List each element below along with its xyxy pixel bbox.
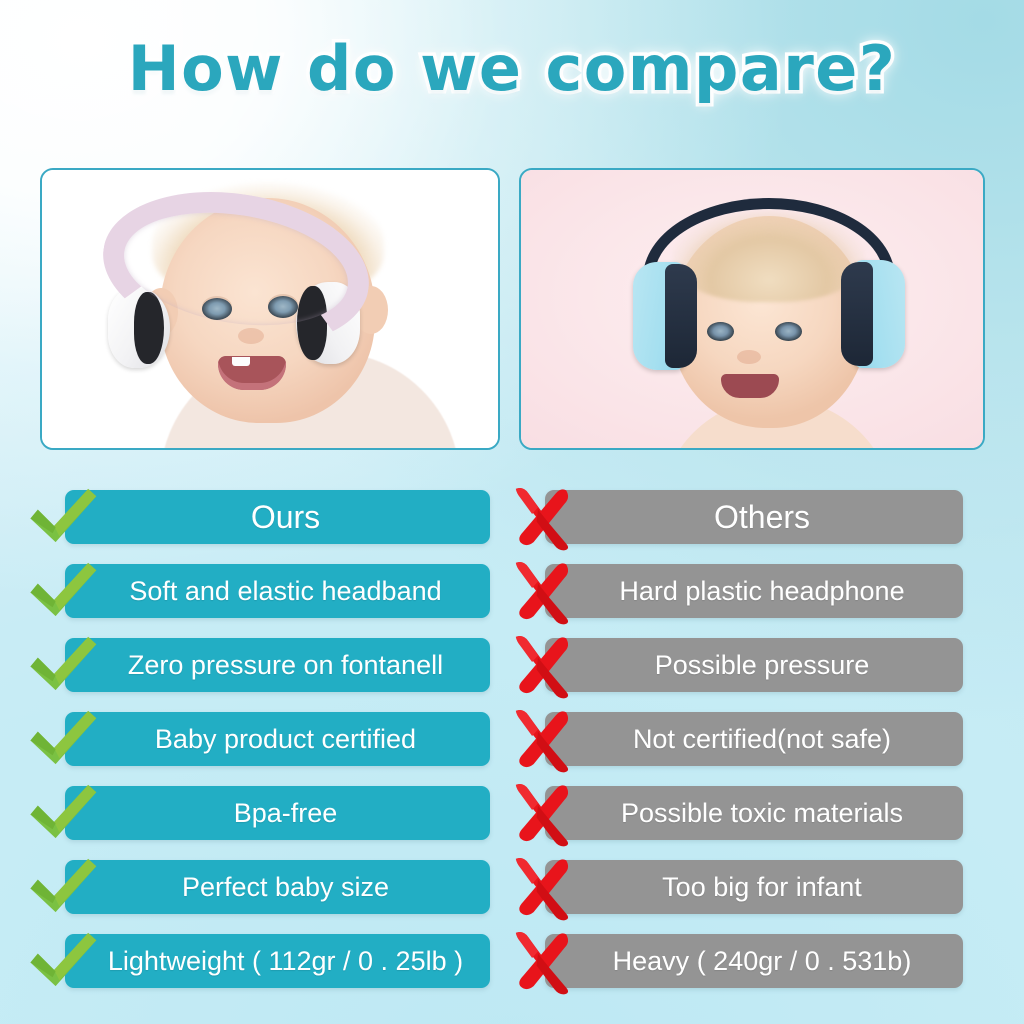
others-label: Not certified(not safe) <box>633 726 891 753</box>
row-others: Not certified(not safe) <box>545 712 963 766</box>
row-ours: Zero pressure on fontanell <box>65 638 490 692</box>
comparison-infographic: How do we compare? <box>0 0 1024 1024</box>
others-pill: Hard plastic headphone <box>545 564 963 618</box>
others-pill: Possible toxic materials <box>545 786 963 840</box>
others-label: Possible pressure <box>655 652 870 679</box>
ours-pill: Lightweight ( 112gr / 0 . 25lb ) <box>65 934 490 988</box>
row-others: Too big for infant <box>545 860 963 914</box>
others-pill: Possible pressure <box>545 638 963 692</box>
row-others: Possible toxic materials <box>545 786 963 840</box>
row-ours: Bpa-free <box>65 786 490 840</box>
ours-label: Soft and elastic headband <box>129 578 441 605</box>
others-label: Too big for infant <box>662 874 862 901</box>
ours-pill: Perfect baby size <box>65 860 490 914</box>
others-pill: Too big for infant <box>545 860 963 914</box>
ours-pill: Baby product certified <box>65 712 490 766</box>
others-pill: Not certified(not safe) <box>545 712 963 766</box>
row-ours: Perfect baby size <box>65 860 490 914</box>
ours-label: Lightweight ( 112gr / 0 . 25lb ) <box>108 948 463 975</box>
row-header-others: Others <box>545 490 963 544</box>
others-label: Hard plastic headphone <box>619 578 904 605</box>
row-ours: Baby product certified <box>65 712 490 766</box>
comparison-table: OursOthersSoft and elastic headbandHard … <box>0 0 1024 1024</box>
others-label: Possible toxic materials <box>621 800 903 827</box>
row-ours: Lightweight ( 112gr / 0 . 25lb ) <box>65 934 490 988</box>
row-header-ours: Ours <box>65 490 490 544</box>
others-label: Others <box>714 501 810 533</box>
others-pill: Heavy ( 240gr / 0 . 531b) <box>545 934 963 988</box>
ours-label: Bpa-free <box>234 800 338 827</box>
row-others: Heavy ( 240gr / 0 . 531b) <box>545 934 963 988</box>
row-others: Possible pressure <box>545 638 963 692</box>
others-label: Heavy ( 240gr / 0 . 531b) <box>613 948 912 975</box>
ours-pill: Soft and elastic headband <box>65 564 490 618</box>
row-others: Hard plastic headphone <box>545 564 963 618</box>
ours-pill: Ours <box>65 490 490 544</box>
ours-pill: Bpa-free <box>65 786 490 840</box>
row-ours: Soft and elastic headband <box>65 564 490 618</box>
ours-pill: Zero pressure on fontanell <box>65 638 490 692</box>
ours-label: Ours <box>251 501 320 533</box>
others-pill: Others <box>545 490 963 544</box>
ours-label: Baby product certified <box>155 726 416 753</box>
ours-label: Zero pressure on fontanell <box>128 652 443 679</box>
ours-label: Perfect baby size <box>182 874 389 901</box>
